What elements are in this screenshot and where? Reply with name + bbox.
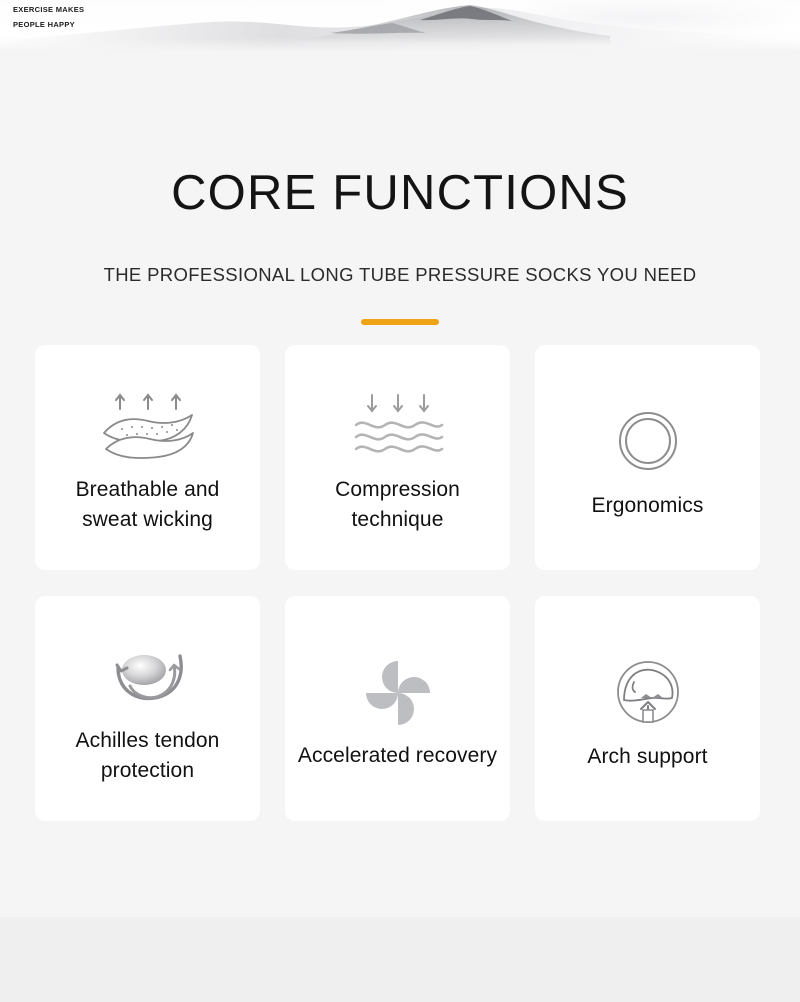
banner-tagline-line-2: PEOPLE HAPPY [13, 17, 84, 32]
accent-divider [361, 319, 439, 325]
lower-spacer-band [0, 862, 800, 917]
pinwheel-icon [355, 645, 441, 741]
concentric-ring-icon [610, 393, 686, 489]
feature-card-label: Breathable and sweat wicking [48, 475, 248, 535]
fabric-layers-airflow-icon [96, 379, 200, 475]
feature-card-compression[interactable]: Compression technique [285, 345, 510, 570]
feature-card-achilles[interactable]: Achilles tendon protection [35, 596, 260, 821]
section-header: CORE FUNCTIONS THE PROFESSIONAL LONG TUB… [0, 52, 800, 325]
feature-card-arch-support[interactable]: Arch support [535, 596, 760, 821]
foot-arch-circle-icon [608, 644, 688, 740]
downward-arrows-waves-icon [346, 379, 450, 475]
divider-wrapper [0, 285, 800, 325]
feature-card-label: Accelerated recovery [298, 741, 498, 771]
feature-card-label: Achilles tendon protection [48, 726, 248, 786]
feature-card-breathable[interactable]: Breathable and sweat wicking [35, 345, 260, 570]
feature-card-label: Ergonomics [548, 491, 748, 521]
banner-bottom-fade [0, 38, 800, 52]
footer-band [0, 917, 800, 1002]
feature-card-recovery[interactable]: Accelerated recovery [285, 596, 510, 821]
hero-banner: EXERCISE MAKES PEOPLE HAPPY [0, 0, 800, 52]
banner-tagline: EXERCISE MAKES PEOPLE HAPPY [13, 2, 84, 32]
feature-grid: Breathable and sweat wicking Compression… [35, 325, 765, 821]
feature-card-label: Arch support [548, 742, 748, 772]
banner-tagline-line-1: EXERCISE MAKES [13, 2, 84, 17]
feature-card-label: Compression technique [298, 475, 498, 535]
page-subtitle: THE PROFESSIONAL LONG TUBE PRESSURE SOCK… [0, 218, 800, 285]
page-title: CORE FUNCTIONS [0, 52, 800, 218]
swirl-arcs-sphere-icon [96, 630, 200, 726]
feature-card-ergonomics[interactable]: Ergonomics [535, 345, 760, 570]
